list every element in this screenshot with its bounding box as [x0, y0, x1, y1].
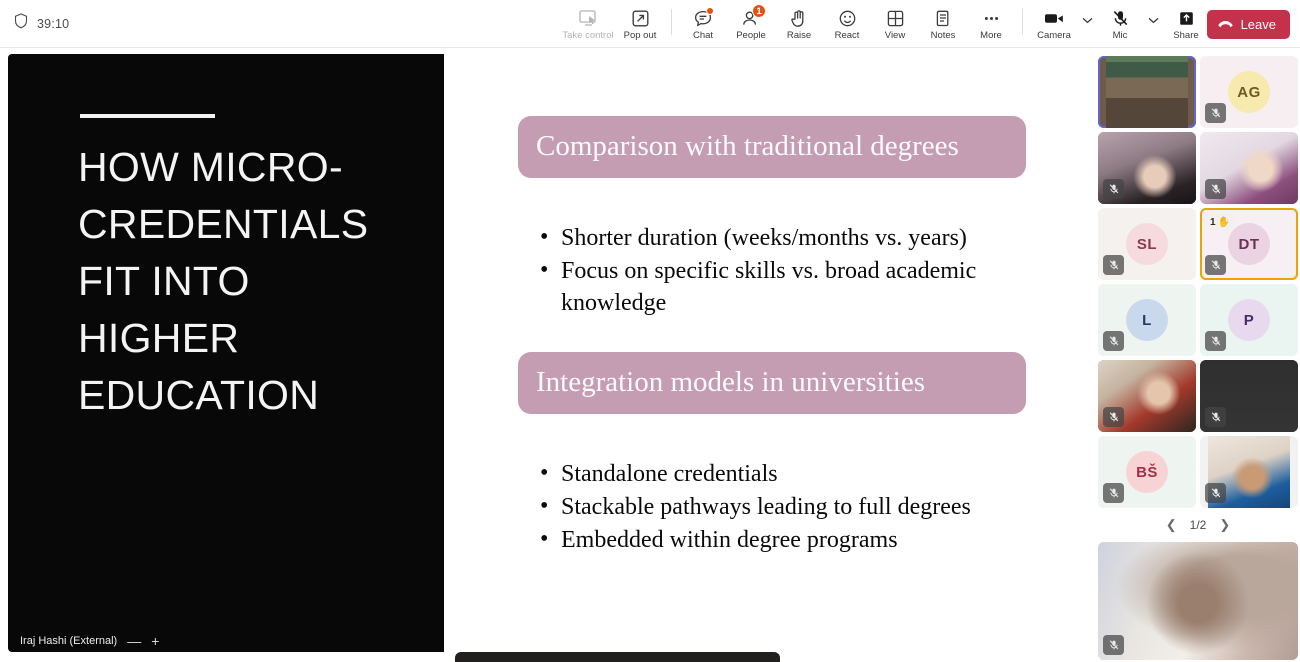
raise-hand-count: 1	[1210, 217, 1216, 228]
avatar: DT	[1228, 223, 1270, 265]
presenter-bar: Iraj Hashi (External) — +	[8, 630, 159, 652]
participant-tile-p[interactable]: P	[1200, 284, 1298, 356]
toolbar-divider-2	[1022, 9, 1023, 35]
mic-off-icon	[1103, 255, 1124, 275]
chat-unread-badge	[706, 7, 714, 15]
raise-hand-icon	[790, 8, 808, 29]
mic-off-icon	[1205, 331, 1226, 351]
notes-label: Notes	[931, 30, 956, 41]
notes-icon	[934, 8, 952, 29]
roster-pager: ❮ 1/2 ❯	[1096, 512, 1300, 538]
toolbar-buttons: Take control Pop out Chat 1 People	[560, 0, 1210, 48]
chat-button[interactable]: Chat	[679, 0, 727, 48]
ellipsis-icon	[982, 8, 1001, 29]
camera-button[interactable]: Camera	[1030, 0, 1078, 48]
mic-chevron-down-icon[interactable]	[1144, 0, 1162, 44]
section-heading-integration: Integration models in universities	[518, 352, 1026, 414]
zoom-in-button[interactable]: +	[151, 634, 159, 648]
meeting-toolbar: 39:10 Take control Pop out Chat	[0, 0, 1300, 48]
share-up-icon	[1177, 8, 1196, 29]
mic-off-icon	[1205, 179, 1226, 199]
pop-out-icon	[631, 8, 650, 29]
react-label: React	[835, 30, 860, 41]
mic-off-icon	[1103, 483, 1124, 503]
slide-body-panel: Comparison with traditional degrees Shor…	[444, 54, 1088, 652]
more-label: More	[980, 30, 1002, 41]
bullet-list-integration: Standalone credentials Stackable pathway…	[536, 458, 1016, 557]
participant-tile-sl[interactable]: SL	[1098, 208, 1196, 280]
more-button[interactable]: More	[967, 0, 1015, 48]
view-label: View	[885, 30, 905, 41]
bullet-list-comparison: Shorter duration (weeks/months vs. years…	[536, 222, 1016, 320]
notes-button[interactable]: Notes	[919, 0, 967, 48]
camera-icon	[1043, 8, 1066, 29]
participant-roster: AGSLDT1✋LPBŠ ❮ 1/2 ❯	[1096, 54, 1300, 662]
shared-content-stage[interactable]: HOW MICRO-CREDENTIALS FIT INTO HIGHER ED…	[8, 54, 1088, 652]
slide-title-panel: HOW MICRO-CREDENTIALS FIT INTO HIGHER ED…	[8, 54, 444, 652]
list-item: Standalone credentials	[536, 458, 1016, 490]
list-item: Shorter duration (weeks/months vs. years…	[536, 222, 1016, 254]
avatar: L	[1126, 299, 1168, 341]
people-count-badge: 1	[752, 4, 766, 18]
shield-icon	[14, 13, 28, 34]
timer-label: 39:10	[37, 17, 69, 31]
participant-tile-l[interactable]: L	[1098, 284, 1196, 356]
list-item: Focus on specific skills vs. broad acade…	[536, 255, 1016, 319]
mic-off-icon	[1103, 331, 1124, 351]
leave-button[interactable]: Leave	[1207, 10, 1290, 39]
raise-label: Raise	[787, 30, 811, 41]
participant-tile-10[interactable]	[1200, 360, 1298, 432]
stage-bottom-handle[interactable]	[455, 652, 780, 662]
participant-tile-4[interactable]	[1200, 132, 1298, 204]
mic-off-icon	[1111, 8, 1130, 29]
mic-off-icon	[1205, 255, 1226, 275]
mic-button[interactable]: Mic	[1096, 0, 1144, 48]
hangup-icon	[1217, 17, 1234, 32]
mic-off-icon	[1103, 635, 1124, 655]
section-heading-comparison: Comparison with traditional degrees	[518, 116, 1026, 178]
pop-out-button[interactable]: Pop out	[616, 0, 664, 48]
view-button[interactable]: View	[871, 0, 919, 48]
list-item: Embedded within degree programs	[536, 524, 1016, 556]
grid-icon	[886, 8, 905, 29]
mic-off-icon	[1205, 103, 1226, 123]
avatar: SL	[1126, 223, 1168, 265]
screen-cursor-icon	[578, 8, 598, 29]
take-control-button[interactable]: Take control	[560, 0, 616, 48]
participant-tile-dt[interactable]: DT1✋	[1200, 208, 1298, 280]
avatar: BŠ	[1126, 451, 1168, 493]
smiley-icon	[838, 8, 857, 29]
react-button[interactable]: React	[823, 0, 871, 48]
list-item: Stackable pathways leading to full degre…	[536, 491, 1016, 523]
presenter-name: Iraj Hashi (External)	[20, 635, 117, 647]
chevron-left-icon[interactable]: ❮	[1166, 517, 1177, 533]
share-label: Share	[1173, 30, 1198, 41]
mic-off-icon	[1103, 179, 1124, 199]
camera-label: Camera	[1037, 30, 1071, 41]
slide-title: HOW MICRO-CREDENTIALS FIT INTO HIGHER ED…	[78, 139, 418, 424]
raise-hand-badge: 1✋	[1205, 213, 1235, 231]
participant-tile-bs[interactable]: BŠ	[1098, 436, 1196, 508]
pop-out-label: Pop out	[624, 30, 657, 41]
chat-label: Chat	[693, 30, 713, 41]
participant-tile-3[interactable]	[1098, 132, 1196, 204]
slide-title-rule	[80, 114, 215, 118]
share-button[interactable]: Share	[1162, 0, 1210, 48]
zoom-out-button[interactable]: —	[127, 634, 141, 648]
self-video-tile[interactable]	[1098, 542, 1298, 660]
participant-tile-1[interactable]	[1098, 56, 1196, 128]
participant-tile-grid: AGSLDT1✋LPBŠ	[1096, 54, 1300, 510]
participant-video-feed	[1106, 56, 1188, 128]
avatar: AG	[1228, 71, 1270, 113]
take-control-label: Take control	[562, 30, 613, 41]
chevron-right-icon[interactable]: ❯	[1219, 517, 1230, 533]
people-button[interactable]: 1 People	[727, 0, 775, 48]
people-label: People	[736, 30, 766, 41]
self-video-feed	[1098, 542, 1298, 660]
avatar: P	[1228, 299, 1270, 341]
mic-off-icon	[1103, 407, 1124, 427]
raise-hand-icon: ✋	[1218, 217, 1230, 228]
roster-page-label: 1/2	[1190, 518, 1207, 532]
leave-label: Leave	[1241, 17, 1276, 32]
meeting-timer: 39:10	[14, 13, 69, 34]
mic-off-icon	[1205, 483, 1226, 503]
mic-off-icon	[1205, 407, 1226, 427]
participant-tile-12[interactable]	[1200, 436, 1298, 508]
mic-label: Mic	[1113, 30, 1128, 41]
participant-tile-9[interactable]	[1098, 360, 1196, 432]
raise-hand-button[interactable]: Raise	[775, 0, 823, 48]
toolbar-divider-1	[671, 9, 672, 35]
camera-chevron-down-icon[interactable]	[1078, 0, 1096, 44]
participant-tile-ag[interactable]: AG	[1200, 56, 1298, 128]
